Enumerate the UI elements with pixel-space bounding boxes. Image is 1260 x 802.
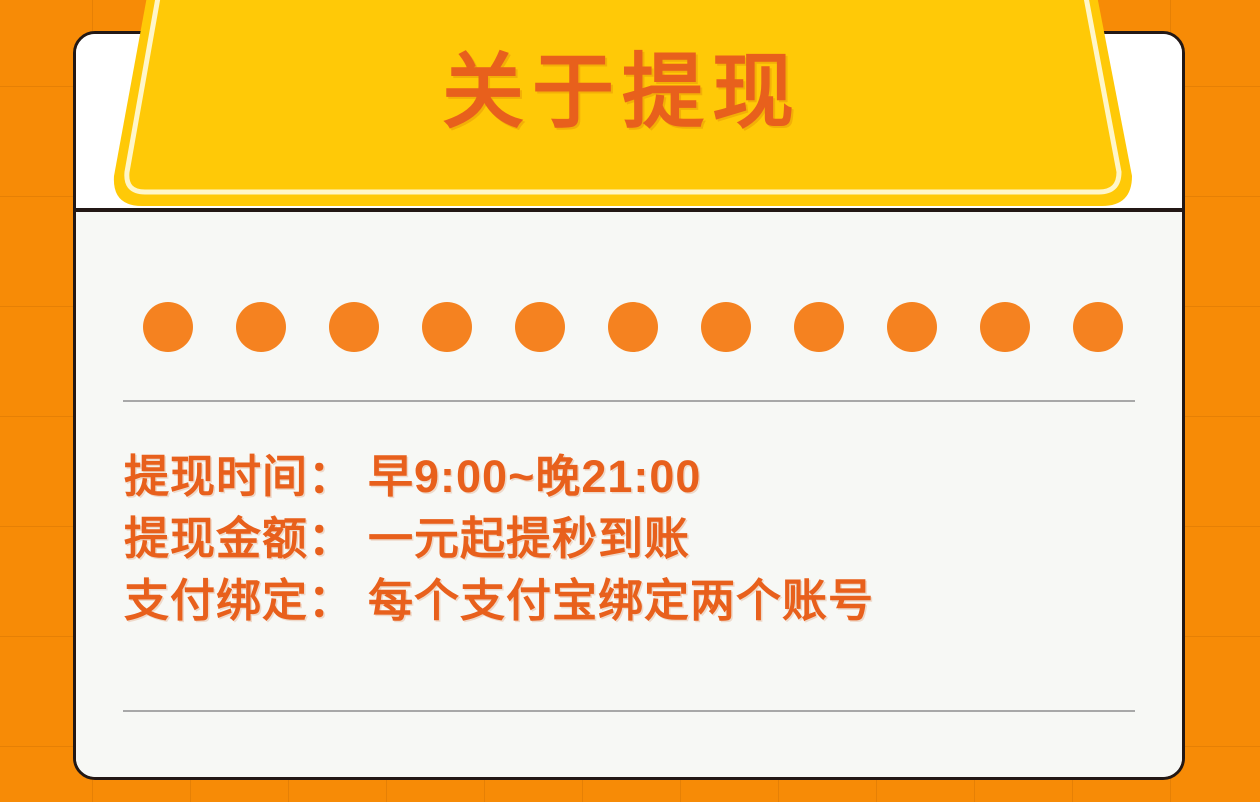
withdrawal-info-list: 提现时间： 早9:00~晚21:00 提现金额： 一元起提秒到账 支付绑定： 每… bbox=[124, 446, 1144, 632]
card-body: 提现时间： 早9:00~晚21:00 提现金额： 一元起提秒到账 支付绑定： 每… bbox=[76, 212, 1182, 777]
punch-hole-dot-icon bbox=[143, 302, 193, 352]
punch-hole-dot-icon bbox=[980, 302, 1030, 352]
info-label: 支付绑定： bbox=[124, 570, 354, 632]
punch-hole-dot-icon bbox=[794, 302, 844, 352]
info-value: 早9:00~晚21:00 bbox=[368, 446, 701, 508]
punch-hole-dot-icon bbox=[701, 302, 751, 352]
info-label: 提现金额： bbox=[124, 508, 354, 570]
punch-hole-dot-icon bbox=[887, 302, 937, 352]
info-row-withdraw-amount: 提现金额： 一元起提秒到账 bbox=[124, 508, 1144, 570]
punch-hole-dot-icon bbox=[329, 302, 379, 352]
poster-stage: 提现时间： 早9:00~晚21:00 提现金额： 一元起提秒到账 支付绑定： 每… bbox=[0, 0, 1260, 802]
info-label: 提现时间： bbox=[124, 446, 354, 508]
info-value: 每个支付宝绑定两个账号 bbox=[368, 570, 874, 632]
punch-hole-dot-icon bbox=[236, 302, 286, 352]
divider-line-top bbox=[123, 400, 1135, 402]
punch-hole-dot-icon bbox=[1073, 302, 1123, 352]
info-value: 一元起提秒到账 bbox=[368, 508, 690, 570]
dots-row bbox=[143, 301, 1123, 353]
divider-line-bottom bbox=[123, 710, 1135, 712]
title-banner: 关于提现 bbox=[112, 0, 1132, 206]
page-title: 关于提现 bbox=[112, 52, 1132, 134]
punch-hole-dot-icon bbox=[515, 302, 565, 352]
info-row-payment-binding: 支付绑定： 每个支付宝绑定两个账号 bbox=[124, 570, 1144, 632]
punch-hole-dot-icon bbox=[608, 302, 658, 352]
punch-hole-dot-icon bbox=[422, 302, 472, 352]
info-row-withdraw-time: 提现时间： 早9:00~晚21:00 bbox=[124, 446, 1144, 508]
